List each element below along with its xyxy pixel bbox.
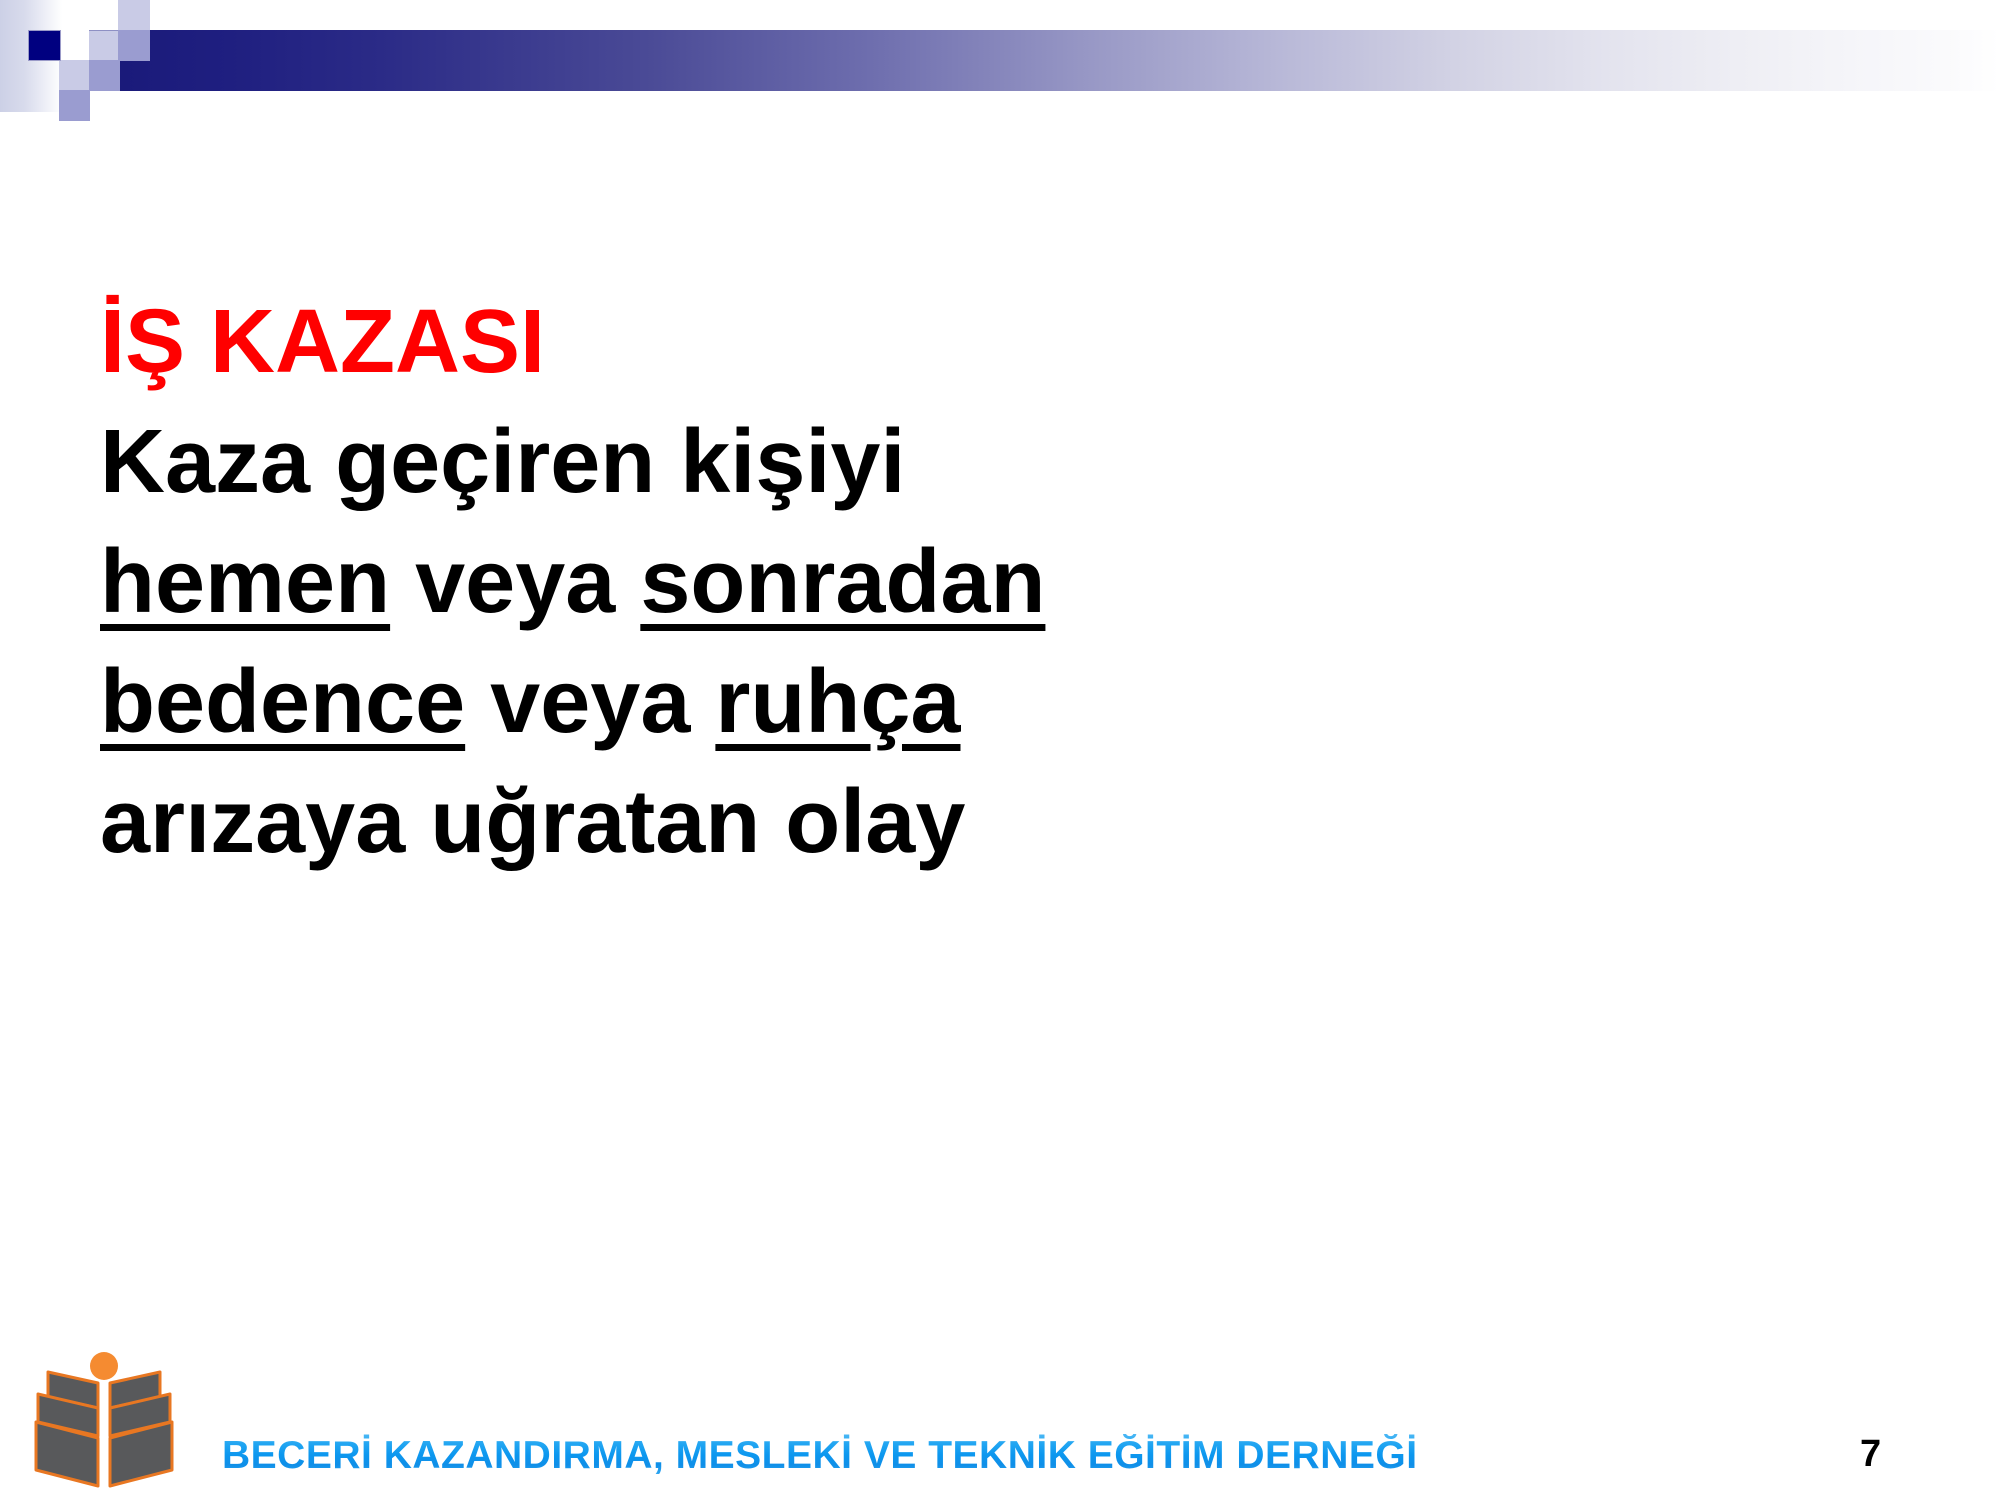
header-square-navy xyxy=(28,30,61,61)
keyword-sonradan: sonradan xyxy=(640,532,1045,632)
keyword-bedence: bedence xyxy=(100,652,465,752)
page-number: 7 xyxy=(1860,1433,1881,1476)
header-square-pale-lower xyxy=(59,60,90,91)
keyword-hemen: hemen xyxy=(100,532,390,632)
header-square-medium-lower xyxy=(89,60,120,91)
header-square-pale-mid xyxy=(89,30,119,62)
page-title: İŞ KAZASI xyxy=(100,282,1900,402)
definition-line-1-text: Kaza geçiren kişiyi xyxy=(100,412,905,512)
definition-line-4-text: arızaya uğratan olay xyxy=(100,772,965,872)
conjunction-veya-1: veya xyxy=(390,532,640,632)
header-square-medium-top xyxy=(118,30,150,61)
organization-name: BECERİ KAZANDIRMA, MESLEKİ VE TEKNİK EĞİ… xyxy=(222,1434,1418,1478)
definition-line-2: hemen veya sonradan xyxy=(100,522,1900,642)
book-wheat-logo-icon xyxy=(34,1350,174,1492)
header-gradient-bar xyxy=(118,30,2000,91)
conjunction-veya-2: veya xyxy=(465,652,715,752)
header-square-medium-bottom xyxy=(59,90,90,121)
definition-line-4: arızaya uğratan olay xyxy=(100,762,1900,882)
slide-footer: BECERİ KAZANDIRMA, MESLEKİ VE TEKNİK EĞİ… xyxy=(0,1340,2000,1500)
definition-line-1: Kaza geçiren kişiyi xyxy=(100,402,1900,522)
keyword-ruhca: ruhça xyxy=(715,652,960,752)
header-square-pale-top xyxy=(118,0,150,31)
definition-line-3: bedence veya ruhça xyxy=(100,642,1900,762)
header-decoration xyxy=(0,0,2000,120)
slide-content: İŞ KAZASI Kaza geçiren kişiyi hemen veya… xyxy=(100,282,1900,882)
